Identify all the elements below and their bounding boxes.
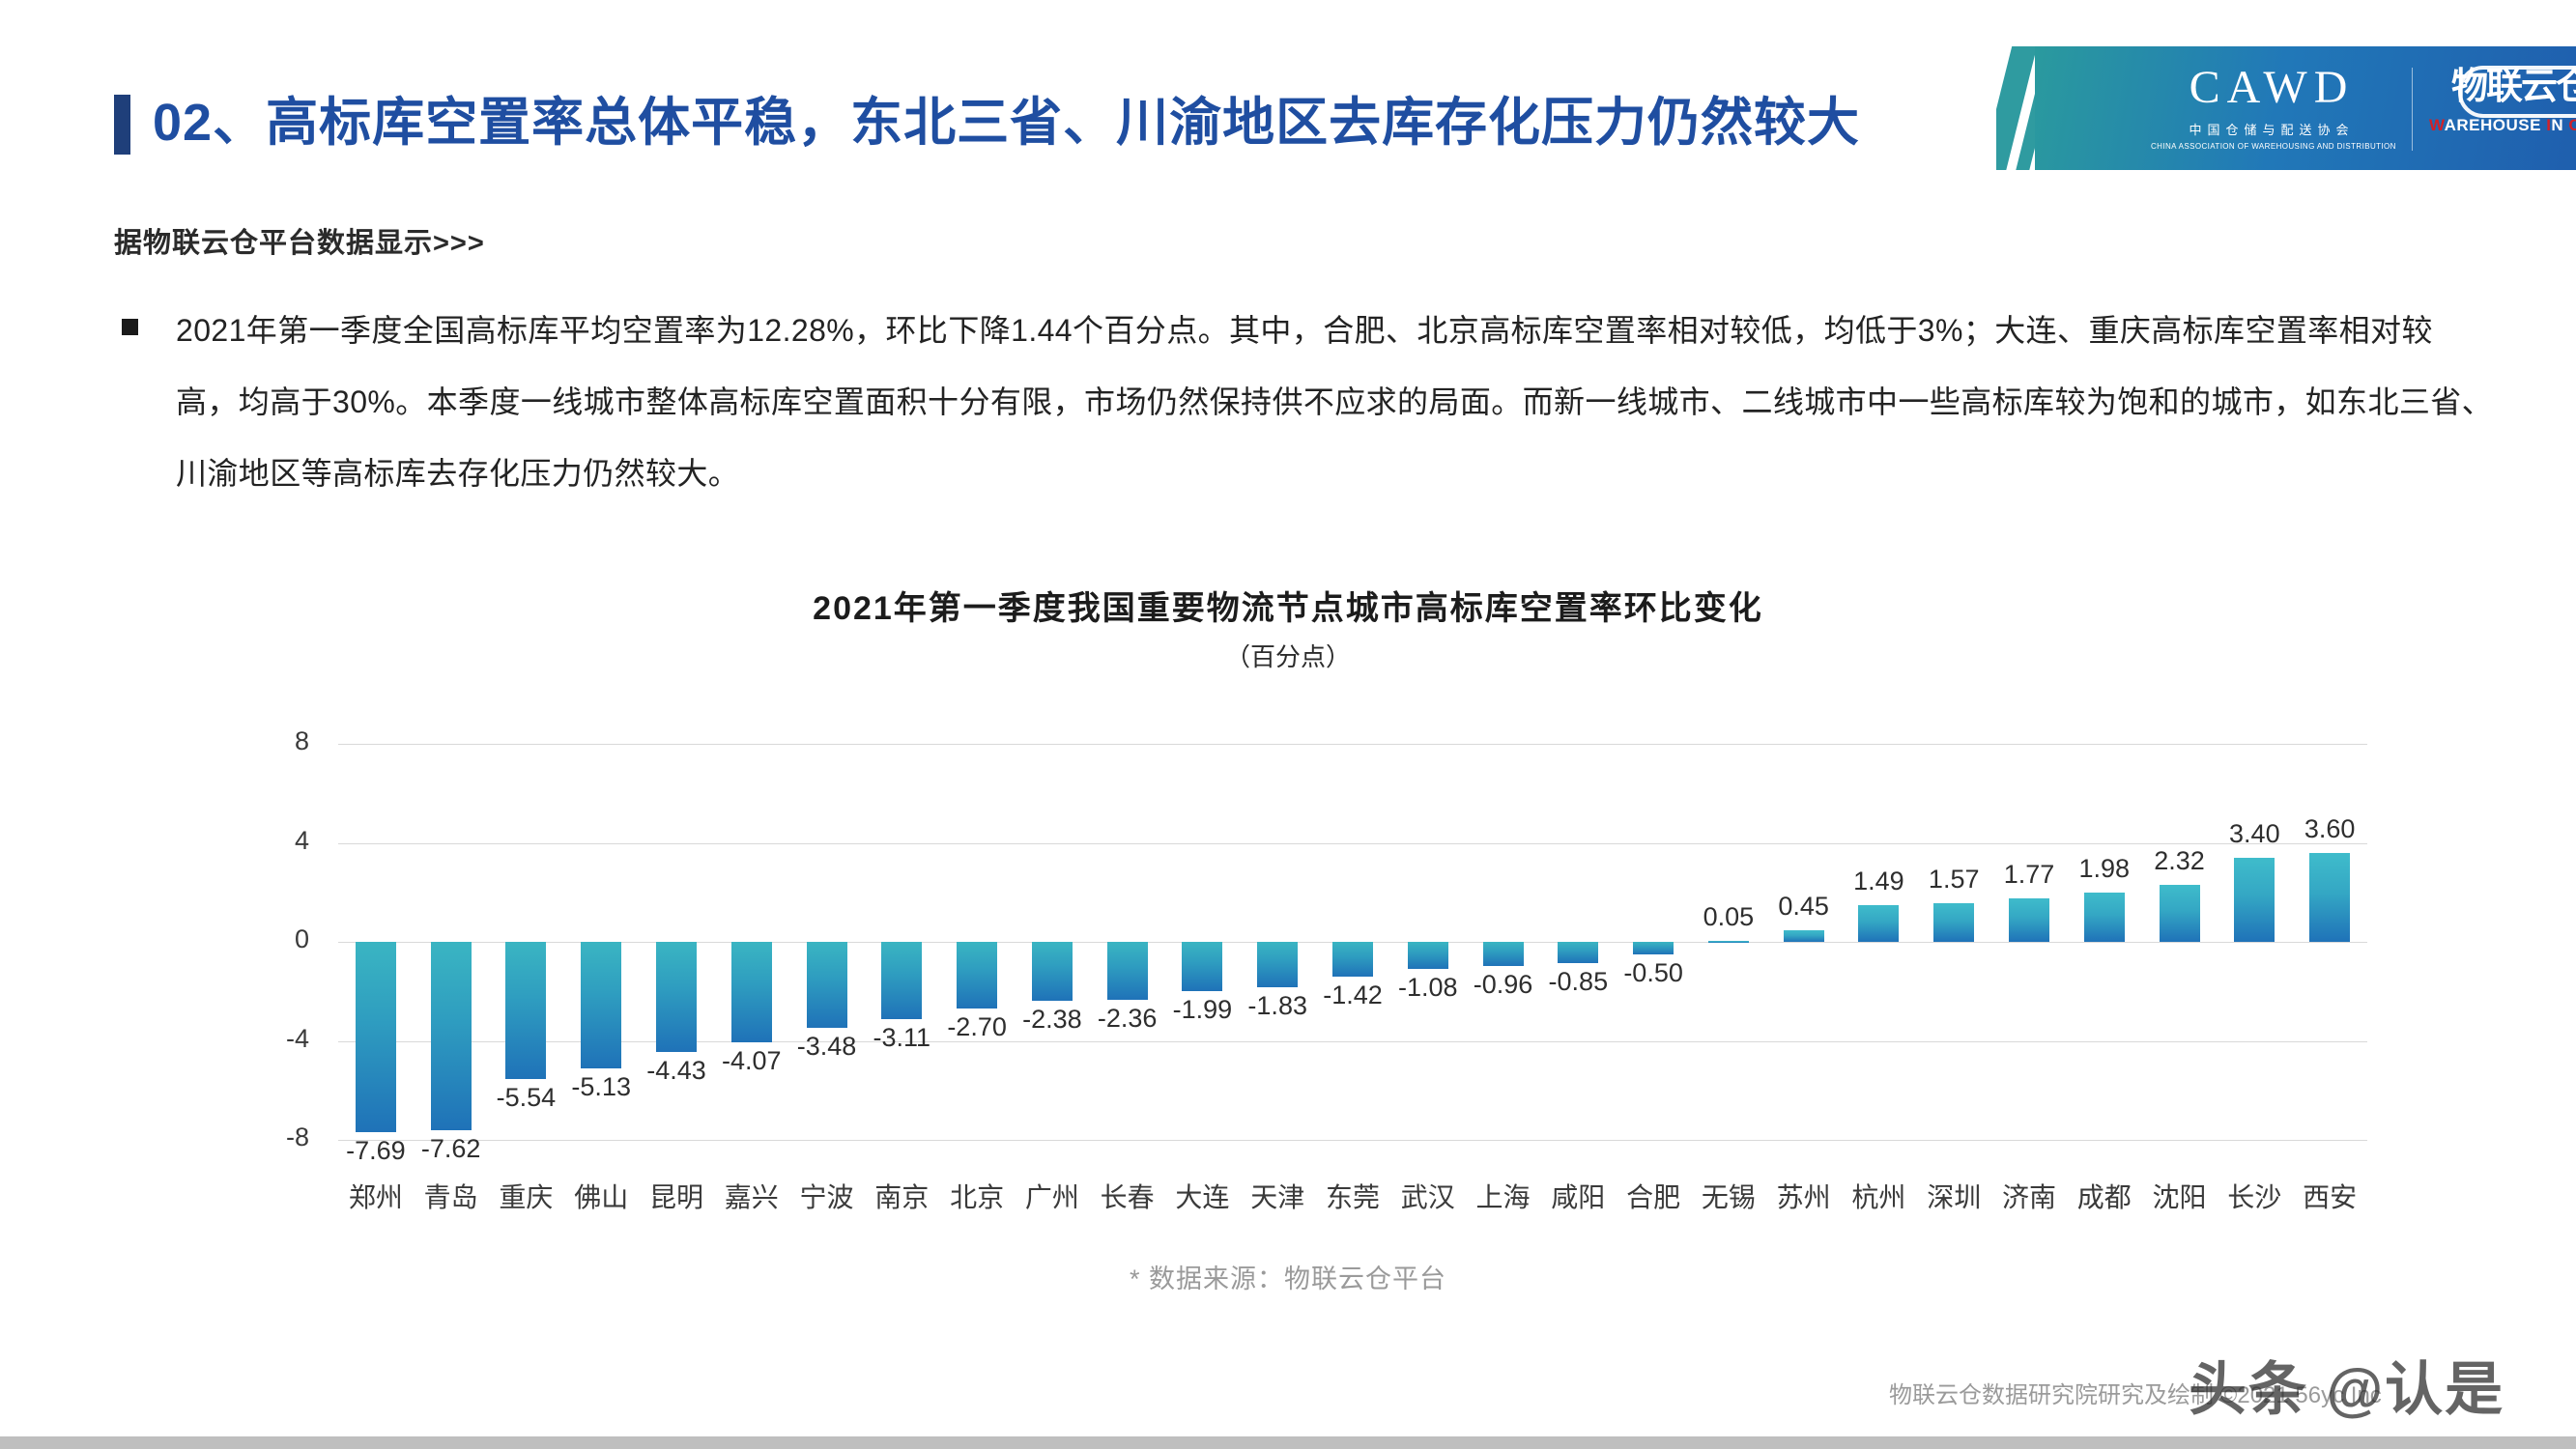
bar[interactable] bbox=[731, 942, 772, 1042]
bar[interactable] bbox=[1182, 942, 1222, 991]
bar-value-label: -2.38 bbox=[1022, 1005, 1082, 1035]
bar-value-label: -2.70 bbox=[947, 1012, 1007, 1042]
wic-en-w: W bbox=[2429, 116, 2445, 134]
bar-value-label: -7.62 bbox=[421, 1134, 481, 1164]
wic-en-c: C bbox=[2568, 116, 2576, 134]
x-axis-tick-label: 宁波 bbox=[800, 1177, 854, 1215]
bar-column[interactable]: -0.50合肥 bbox=[1616, 744, 1691, 1140]
bar-value-label: -4.07 bbox=[722, 1046, 782, 1076]
bar[interactable] bbox=[1708, 941, 1749, 943]
bar[interactable] bbox=[505, 942, 546, 1079]
bar-column[interactable]: -7.69郑州 bbox=[338, 744, 414, 1140]
bar-value-label: -1.08 bbox=[1398, 973, 1458, 1003]
bar[interactable] bbox=[1784, 930, 1824, 942]
bar-chart-plot: -7.69郑州-7.62青岛-5.54重庆-5.13佛山-4.43昆明-4.07… bbox=[338, 744, 2367, 1140]
warehouse-in-cloud-logo: 物联云仓 WAREHOUSE IN CLOUD bbox=[2429, 64, 2576, 135]
chart-source-note: * 数据来源：物联云仓平台 bbox=[0, 1258, 2576, 1295]
bottom-strip bbox=[0, 1436, 2576, 1449]
bar[interactable] bbox=[656, 942, 697, 1052]
bar-column[interactable]: -3.48宁波 bbox=[789, 744, 865, 1140]
bar[interactable] bbox=[2234, 858, 2275, 942]
bar-value-label: 3.60 bbox=[2304, 814, 2356, 844]
chart-subtitle: （百分点） bbox=[0, 638, 2576, 673]
bar-column[interactable]: -3.11南京 bbox=[864, 744, 939, 1140]
bar-value-label: 2.32 bbox=[2154, 846, 2205, 876]
bar-column[interactable]: 3.60西安 bbox=[2292, 744, 2367, 1140]
y-axis-tick-label: 8 bbox=[232, 726, 309, 756]
bar-value-label: -0.96 bbox=[1474, 970, 1533, 1000]
bar[interactable] bbox=[957, 942, 997, 1009]
y-axis-tick-label: 4 bbox=[232, 826, 309, 856]
bar-value-label: -2.36 bbox=[1098, 1004, 1158, 1034]
bar-column[interactable]: -2.36长春 bbox=[1090, 744, 1165, 1140]
bullet-square-icon bbox=[122, 319, 138, 335]
bar-column[interactable]: -4.43昆明 bbox=[639, 744, 714, 1140]
wic-en-n: N bbox=[2551, 116, 2568, 134]
page-title: 02、高标库空置率总体平稳，东北三省、川渝地区去库存化压力仍然较大 bbox=[153, 89, 1860, 156]
x-axis-tick-label: 济南 bbox=[2002, 1177, 2056, 1215]
logo-background: CAWD 中国仓储与配送协会 CHINA ASSOCIATION OF WARE… bbox=[2035, 46, 2576, 170]
bar[interactable] bbox=[807, 942, 847, 1028]
bar-value-label: 0.45 bbox=[1778, 892, 1829, 922]
x-axis-tick-label: 武汉 bbox=[1401, 1177, 1455, 1215]
bar-column[interactable]: 1.98成都 bbox=[2067, 744, 2142, 1140]
cawd-english-name: CHINA ASSOCIATION OF WAREHOUSING AND DIS… bbox=[2151, 142, 2392, 151]
bar-value-label: -5.13 bbox=[571, 1072, 631, 1102]
gridline bbox=[338, 1140, 2367, 1141]
bar-column[interactable]: -5.13佛山 bbox=[563, 744, 639, 1140]
bar[interactable] bbox=[2309, 853, 2350, 942]
bar-value-label: 1.57 bbox=[1929, 865, 1980, 895]
bar-column[interactable]: -1.83天津 bbox=[1240, 744, 1315, 1140]
x-axis-tick-label: 深圳 bbox=[1927, 1177, 1981, 1215]
bar-value-label: 0.05 bbox=[1703, 902, 1755, 932]
bar[interactable] bbox=[2084, 893, 2125, 942]
bar[interactable] bbox=[1408, 942, 1448, 969]
x-axis-tick-label: 嘉兴 bbox=[725, 1177, 779, 1215]
bar[interactable] bbox=[1633, 942, 1674, 954]
x-axis-tick-label: 天津 bbox=[1250, 1177, 1304, 1215]
x-axis-tick-label: 郑州 bbox=[349, 1177, 403, 1215]
title-accent-bar bbox=[114, 95, 130, 155]
bar-column[interactable]: -1.99大连 bbox=[1165, 744, 1241, 1140]
x-axis-tick-label: 广州 bbox=[1025, 1177, 1079, 1215]
lead-in-text: 据物联云仓平台数据显示>>> bbox=[114, 220, 485, 261]
brand-logo-block: CAWD 中国仓储与配送协会 CHINA ASSOCIATION OF WARE… bbox=[1996, 46, 2576, 170]
bar-column[interactable]: -2.38广州 bbox=[1015, 744, 1090, 1140]
y-axis-tick-label: 0 bbox=[232, 924, 309, 954]
bar-value-label: -1.83 bbox=[1247, 991, 1307, 1021]
bar[interactable] bbox=[2009, 898, 2049, 942]
x-axis-tick-label: 佛山 bbox=[574, 1177, 628, 1215]
bar-value-label: 1.98 bbox=[2078, 854, 2130, 884]
x-axis-tick-label: 东莞 bbox=[1326, 1177, 1380, 1215]
bar[interactable] bbox=[881, 942, 922, 1019]
x-axis-tick-label: 成都 bbox=[2077, 1177, 2132, 1215]
bar-column[interactable]: -0.96上海 bbox=[1466, 744, 1541, 1140]
bar-value-label: 1.49 bbox=[1853, 867, 1904, 896]
bar[interactable] bbox=[1933, 903, 1974, 942]
bar-value-label: 1.77 bbox=[2004, 860, 2055, 890]
bar-value-label: -7.69 bbox=[346, 1136, 406, 1166]
bar[interactable] bbox=[1558, 942, 1598, 963]
bar-column[interactable]: -5.54重庆 bbox=[489, 744, 564, 1140]
bar-column[interactable]: 0.45苏州 bbox=[1766, 744, 1842, 1140]
bar-column[interactable]: 1.57深圳 bbox=[1916, 744, 1991, 1140]
y-axis-tick-label: -4 bbox=[232, 1024, 309, 1054]
x-axis-tick-label: 昆明 bbox=[649, 1177, 703, 1215]
bar-value-label: -3.48 bbox=[797, 1032, 857, 1062]
bar[interactable] bbox=[1107, 942, 1148, 1000]
chart-title: 2021年第一季度我国重要物流节点城市高标库空置率环比变化 bbox=[0, 582, 2576, 629]
bar[interactable] bbox=[2160, 885, 2200, 942]
bar-value-label: -1.99 bbox=[1173, 995, 1233, 1025]
bar[interactable] bbox=[1032, 942, 1073, 1001]
bar[interactable] bbox=[431, 942, 472, 1130]
body-paragraph: 2021年第一季度全国高标库平均空置率为12.28%，环比下降1.44个百分点。… bbox=[176, 295, 2495, 509]
bar-column[interactable]: 1.49杭州 bbox=[1842, 744, 1917, 1140]
x-axis-tick-label: 苏州 bbox=[1777, 1177, 1831, 1215]
bar[interactable] bbox=[581, 942, 621, 1068]
bar-value-label: -5.54 bbox=[497, 1083, 557, 1113]
x-axis-tick-label: 南京 bbox=[874, 1177, 929, 1215]
bar-column[interactable]: 2.32沈阳 bbox=[2142, 744, 2218, 1140]
x-axis-tick-label: 西安 bbox=[2303, 1177, 2357, 1215]
x-axis-tick-label: 杭州 bbox=[1851, 1177, 1905, 1215]
bar-column[interactable]: 1.77济南 bbox=[1991, 744, 2067, 1140]
cloud-icon bbox=[2458, 66, 2576, 118]
x-axis-tick-label: 无锡 bbox=[1702, 1177, 1756, 1215]
logo-divider bbox=[2412, 68, 2413, 151]
bar-value-label: -1.42 bbox=[1323, 980, 1383, 1010]
bar-value-label: 3.40 bbox=[2229, 819, 2280, 849]
bar-value-label: -3.11 bbox=[873, 1023, 931, 1053]
bar[interactable] bbox=[1483, 942, 1524, 966]
x-axis-tick-label: 合肥 bbox=[1626, 1177, 1680, 1215]
x-axis-tick-label: 上海 bbox=[1476, 1177, 1531, 1215]
bar-column[interactable]: 0.05无锡 bbox=[1691, 744, 1766, 1140]
bar[interactable] bbox=[1257, 942, 1298, 987]
bar[interactable] bbox=[356, 942, 396, 1132]
bar[interactable] bbox=[1332, 942, 1373, 977]
x-axis-tick-label: 青岛 bbox=[424, 1177, 478, 1215]
bar-column[interactable]: -0.85咸阳 bbox=[1540, 744, 1616, 1140]
watermark: 头条 @认是 bbox=[2189, 1343, 2504, 1427]
bar-value-label: -4.43 bbox=[646, 1056, 706, 1086]
x-axis-tick-label: 北京 bbox=[950, 1177, 1004, 1215]
x-axis-tick-label: 长春 bbox=[1101, 1177, 1155, 1215]
x-axis-tick-label: 咸阳 bbox=[1551, 1177, 1605, 1215]
x-axis-tick-label: 沈阳 bbox=[2153, 1177, 2207, 1215]
bar-column[interactable]: -1.08武汉 bbox=[1390, 744, 1466, 1140]
bar-column[interactable]: 3.40长沙 bbox=[2217, 744, 2292, 1140]
x-axis-tick-label: 大连 bbox=[1175, 1177, 1229, 1215]
bar-column[interactable]: -2.70北京 bbox=[939, 744, 1015, 1140]
wic-english-name: WAREHOUSE IN CLOUD bbox=[2429, 116, 2576, 135]
bar-column[interactable]: -7.62青岛 bbox=[414, 744, 489, 1140]
page-header: 02、高标库空置率总体平稳，东北三省、川渝地区去库存化压力仍然较大 CAWD 中… bbox=[0, 0, 2576, 208]
x-axis-tick-label: 重庆 bbox=[499, 1177, 553, 1215]
bar-value-label: -0.85 bbox=[1549, 967, 1609, 997]
cawd-chinese-name: 中国仓储与配送协会 bbox=[2151, 120, 2392, 138]
y-axis-tick-label: -8 bbox=[232, 1122, 309, 1152]
bar[interactable] bbox=[1858, 905, 1899, 942]
bar-value-label: -0.50 bbox=[1623, 958, 1683, 988]
cawd-wordmark: CAWD bbox=[2151, 62, 2392, 114]
bar-column[interactable]: -4.07嘉兴 bbox=[714, 744, 789, 1140]
wic-en-arehouse: AREHOUSE bbox=[2445, 116, 2547, 134]
cawd-logo: CAWD 中国仓储与配送协会 CHINA ASSOCIATION OF WARE… bbox=[2151, 62, 2392, 151]
x-axis-tick-label: 长沙 bbox=[2227, 1177, 2281, 1215]
bar-column[interactable]: -1.42东莞 bbox=[1315, 744, 1390, 1140]
